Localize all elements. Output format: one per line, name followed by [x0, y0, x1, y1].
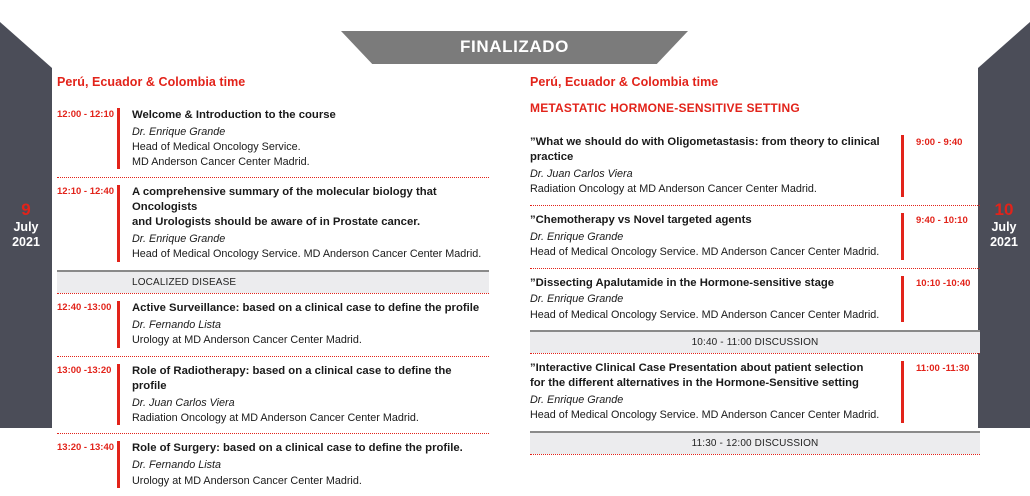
session-affiliation: Head of Medical Oncology Service. MD And…: [530, 245, 891, 260]
session-row[interactable]: ”Chemotherapy vs Novel targeted agents D…: [530, 206, 980, 268]
session-title: Role of Radiotherapy: based on a clinica…: [132, 364, 489, 394]
left-timezone-header: Perú, Ecuador & Colombia time: [57, 75, 489, 89]
status-badge: FINALIZADO: [341, 31, 688, 64]
session-time: 13:00 -13:20: [57, 364, 117, 376]
session-row[interactable]: ”Interactive Clinical Case Presentation …: [530, 354, 980, 431]
session-affiliation: MD Anderson Cancer Center Madrid.: [132, 155, 489, 170]
session-speaker: Dr. Enrique Grande: [530, 230, 891, 245]
session-row[interactable]: ”Dissecting Apalutamide in the Hormone-s…: [530, 269, 980, 331]
right-timezone-header: Perú, Ecuador & Colombia time: [530, 75, 980, 89]
session-body: ”What we should do with Oligometastasis:…: [530, 135, 901, 197]
day-tab-left-year: 2021: [0, 235, 52, 250]
session-rule: [117, 364, 120, 426]
agenda-column-day-9: Perú, Ecuador & Colombia time 12:00 - 12…: [57, 75, 489, 496]
section-title-metastatic: METASTATIC HORMONE-SENSITIVE SETTING: [530, 101, 980, 115]
session-title: ”Dissecting Apalutamide in the Hormone-s…: [530, 276, 891, 291]
session-separator: [530, 454, 980, 455]
session-title: ”What we should do with Oligometastasis:…: [530, 135, 891, 165]
session-row[interactable]: 12:40 -13:00 Active Surveillance: based …: [57, 294, 489, 356]
session-title: and Urologists should be aware of in Pro…: [132, 215, 489, 230]
session-time: 11:00 -11:30: [904, 361, 980, 374]
day-tab-right-year: 2021: [978, 235, 1030, 250]
session-speaker: Dr. Fernando Lista: [132, 318, 489, 333]
session-affiliation: Radiation Oncology at MD Anderson Cancer…: [530, 182, 891, 197]
session-speaker: Dr. Enrique Grande: [132, 232, 489, 247]
session-speaker: Dr. Juan Carlos Viera: [132, 396, 489, 411]
session-affiliation: Head of Medical Oncology Service. MD And…: [132, 247, 489, 262]
session-title: Active Surveillance: based on a clinical…: [132, 301, 489, 316]
session-body: ”Dissecting Apalutamide in the Hormone-s…: [530, 276, 901, 323]
category-bar-localized-disease: LOCALIZED DISEASE: [57, 270, 489, 293]
session-affiliation: Radiation Oncology at MD Anderson Cancer…: [132, 411, 489, 426]
session-rule: [117, 441, 120, 488]
session-body: Role of Surgery: based on a clinical cas…: [132, 441, 489, 488]
session-body: Active Surveillance: based on a clinical…: [132, 301, 489, 348]
session-rule: [117, 108, 120, 169]
session-time: 12:00 - 12:10: [57, 108, 117, 120]
session-title: ”Chemotherapy vs Novel targeted agents: [530, 213, 891, 228]
day-tab-right-month: July: [978, 220, 1030, 235]
session-title: A comprehensive summary of the molecular…: [132, 185, 489, 215]
session-time: 9:40 - 10:10: [904, 213, 980, 226]
session-rule: [117, 301, 120, 348]
session-affiliation: Urology at MD Anderson Cancer Center Mad…: [132, 333, 489, 348]
day-tab-right[interactable]: 10 July 2021: [978, 22, 1030, 428]
session-body: Role of Radiotherapy: based on a clinica…: [132, 364, 489, 426]
session-affiliation: Head of Medical Oncology Service. MD And…: [530, 308, 891, 323]
session-body: Welcome & Introduction to the course Dr.…: [132, 108, 489, 169]
session-body: ”Interactive Clinical Case Presentation …: [530, 361, 901, 423]
session-time: 10:10 -10:40: [904, 276, 980, 289]
day-tab-left-month: July: [0, 220, 52, 235]
session-affiliation: Head of Medical Oncology Service. MD And…: [530, 408, 891, 423]
session-row[interactable]: 13:00 -13:20 Role of Radiotherapy: based…: [57, 357, 489, 434]
day-tab-left-number: 9: [0, 200, 52, 220]
session-row[interactable]: 12:10 - 12:40 A comprehensive summary of…: [57, 178, 489, 270]
session-title: Welcome & Introduction to the course: [132, 108, 489, 123]
agenda-column-day-10: Perú, Ecuador & Colombia time METASTATIC…: [530, 75, 980, 455]
session-rule: [117, 185, 120, 262]
session-speaker: Dr. Juan Carlos Viera: [530, 167, 891, 182]
discussion-bar: 10:40 - 11:00 DISCUSSION: [530, 330, 980, 353]
day-tab-left-inner: 9 July 2021: [0, 200, 52, 250]
day-tab-right-number: 10: [978, 200, 1030, 220]
day-tab-right-inner: 10 July 2021: [978, 200, 1030, 250]
session-title: Role of Surgery: based on a clinical cas…: [132, 441, 489, 456]
session-title: ”Interactive Clinical Case Presentation …: [530, 361, 891, 376]
session-row[interactable]: ”What we should do with Oligometastasis:…: [530, 128, 980, 205]
session-row[interactable]: 13:20 - 13:40 Role of Surgery: based on …: [57, 434, 489, 496]
session-row[interactable]: 12:00 - 12:10 Welcome & Introduction to …: [57, 101, 489, 177]
session-affiliation: Head of Medical Oncology Service.: [132, 140, 489, 155]
session-body: ”Chemotherapy vs Novel targeted agents D…: [530, 213, 901, 260]
session-time: 13:20 - 13:40: [57, 441, 117, 453]
discussion-bar: 11:30 - 12:00 DISCUSSION: [530, 431, 980, 454]
session-body: A comprehensive summary of the molecular…: [132, 185, 489, 262]
session-speaker: Dr. Enrique Grande: [530, 393, 891, 408]
session-speaker: Dr. Enrique Grande: [530, 292, 891, 307]
session-time: 12:10 - 12:40: [57, 185, 117, 197]
session-speaker: Dr. Fernando Lista: [132, 458, 489, 473]
session-speaker: Dr. Enrique Grande: [132, 125, 489, 140]
session-title: for the different alternatives in the Ho…: [530, 376, 891, 391]
day-tab-left[interactable]: 9 July 2021: [0, 22, 52, 428]
session-time: 9:00 - 9:40: [904, 135, 980, 148]
session-time: 12:40 -13:00: [57, 301, 117, 313]
session-affiliation: Urology at MD Anderson Cancer Center Mad…: [132, 474, 489, 489]
